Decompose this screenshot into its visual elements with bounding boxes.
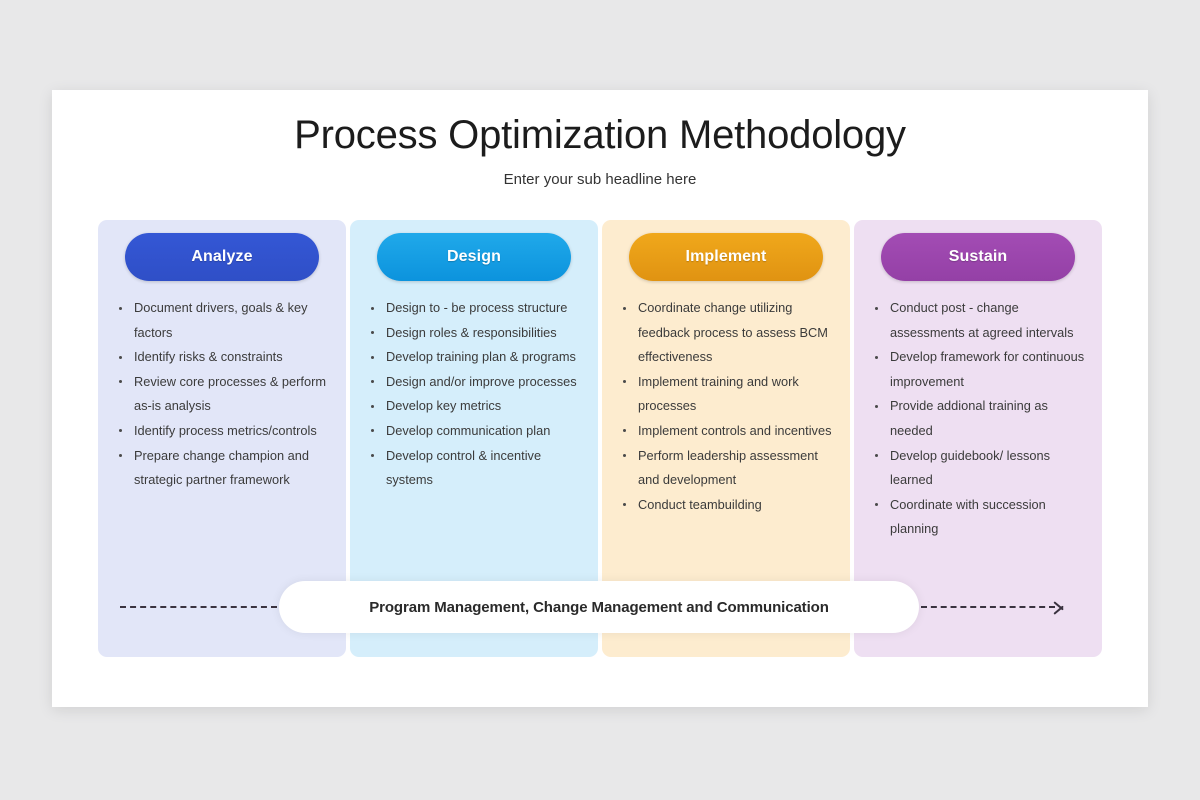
list-item-text: Develop communication plan [386,423,550,438]
list-item: Conduct post - change assessments at agr… [868,296,1086,345]
list-item: Design and/or improve processes [364,370,582,395]
footer-banner-label: Program Management, Change Management an… [369,599,829,616]
list-item: Implement controls and incentives [616,419,834,444]
phase-pill-implement[interactable]: Implement [629,233,823,281]
phase-pill-label: Sustain [949,248,1008,266]
list-item: Coordinate change utilizing feedback pro… [616,296,834,370]
list-item: Coordinate with succession planning [868,493,1086,542]
bullet-dot-icon [371,429,374,432]
column-header-sustain: Sustain [854,220,1102,281]
bullet-dot-icon [875,307,878,310]
list-item-text: Develop key metrics [386,398,501,413]
list-item-text: Coordinate with succession planning [890,497,1046,537]
bullet-dot-icon [875,454,878,457]
bullet-dot-icon [623,503,626,506]
bullet-dot-icon [119,454,122,457]
list-item-text: Implement training and work processes [638,374,799,414]
list-item: Develop framework for continuous improve… [868,345,1086,394]
list-item: Conduct teambuilding [616,493,834,518]
column-header-analyze: Analyze [98,220,346,281]
list-item-text: Document drivers, goals & key factors [134,300,308,340]
phase-pill-label: Design [447,248,501,266]
list-item: Develop training plan & programs [364,345,582,370]
dashed-line-right [921,606,1055,608]
list-item: Implement training and work processes [616,370,834,419]
column-header-design: Design [350,220,598,281]
list-item-text: Develop training plan & programs [386,349,576,364]
list-item: Perform leadership assessment and develo… [616,444,834,493]
list-item-text: Provide addional training as needed [890,398,1048,438]
bullet-dot-icon [119,307,122,310]
bullet-dot-icon [623,429,626,432]
bullet-dot-icon [875,503,878,506]
bullet-dot-icon [119,380,122,383]
list-item-text: Coordinate change utilizing feedback pro… [638,300,828,364]
list-item-text: Develop control & incentive systems [386,448,541,488]
bullet-list-design: Design to - be process structureDesign r… [350,296,598,493]
list-item: Develop key metrics [364,394,582,419]
slide-header: Process Optimization Methodology Enter y… [52,112,1148,188]
phase-pill-label: Implement [686,248,767,266]
footer-banner[interactable]: Program Management, Change Management an… [279,581,919,633]
list-item: Identify risks & constraints [112,345,330,370]
phase-pill-sustain[interactable]: Sustain [881,233,1075,281]
list-item-text: Implement controls and incentives [638,423,831,438]
bullet-dot-icon [119,429,122,432]
page-title: Process Optimization Methodology [52,112,1148,158]
bullet-dot-icon [371,356,374,359]
bullet-dot-icon [623,380,626,383]
list-item-text: Design roles & responsibilities [386,325,557,340]
list-item-text: Prepare change champion and strategic pa… [134,448,309,488]
footer-band: Program Management, Change Management an… [98,577,1102,637]
list-item: Identify process metrics/controls [112,419,330,444]
list-item-text: Design and/or improve processes [386,374,577,389]
dashed-line-left [120,606,277,608]
list-item: Provide addional training as needed [868,394,1086,443]
bullet-list-implement: Coordinate change utilizing feedback pro… [602,296,850,517]
list-item-text: Develop framework for continuous improve… [890,349,1084,389]
list-item-text: Conduct post - change assessments at agr… [890,300,1074,340]
bullet-dot-icon [371,380,374,383]
list-item-text: Identify process metrics/controls [134,423,317,438]
list-item-text: Identify risks & constraints [134,349,283,364]
list-item: Develop guidebook/ lessons learned [868,444,1086,493]
list-item: Design roles & responsibilities [364,321,582,346]
bullet-dot-icon [623,307,626,310]
page-subtitle: Enter your sub headline here [52,171,1148,188]
list-item: Develop control & incentive systems [364,444,582,493]
bullet-dot-icon [875,405,878,408]
list-item-text: Conduct teambuilding [638,497,762,512]
bullet-dot-icon [371,454,374,457]
slide-canvas: Process Optimization Methodology Enter y… [52,90,1148,707]
list-item-text: Perform leadership assessment and develo… [638,448,818,488]
list-item: Develop communication plan [364,419,582,444]
bullet-dot-icon [371,405,374,408]
bullet-dot-icon [371,331,374,334]
list-item: Document drivers, goals & key factors [112,296,330,345]
column-header-implement: Implement [602,220,850,281]
bullet-dot-icon [875,356,878,359]
list-item: Prepare change champion and strategic pa… [112,444,330,493]
bullet-list-sustain: Conduct post - change assessments at agr… [854,296,1102,542]
arrow-right-icon [1054,599,1067,615]
phase-pill-design[interactable]: Design [377,233,571,281]
bullet-dot-icon [623,454,626,457]
bullet-dot-icon [119,356,122,359]
list-item-text: Review core processes & perform as-is an… [134,374,326,414]
bullet-list-analyze: Document drivers, goals & key factorsIde… [98,296,346,493]
bullet-dot-icon [371,307,374,310]
list-item: Design to - be process structure [364,296,582,321]
list-item-text: Design to - be process structure [386,300,567,315]
phase-pill-analyze[interactable]: Analyze [125,233,319,281]
list-item: Review core processes & perform as-is an… [112,370,330,419]
list-item-text: Develop guidebook/ lessons learned [890,448,1050,488]
phase-pill-label: Analyze [191,248,252,266]
